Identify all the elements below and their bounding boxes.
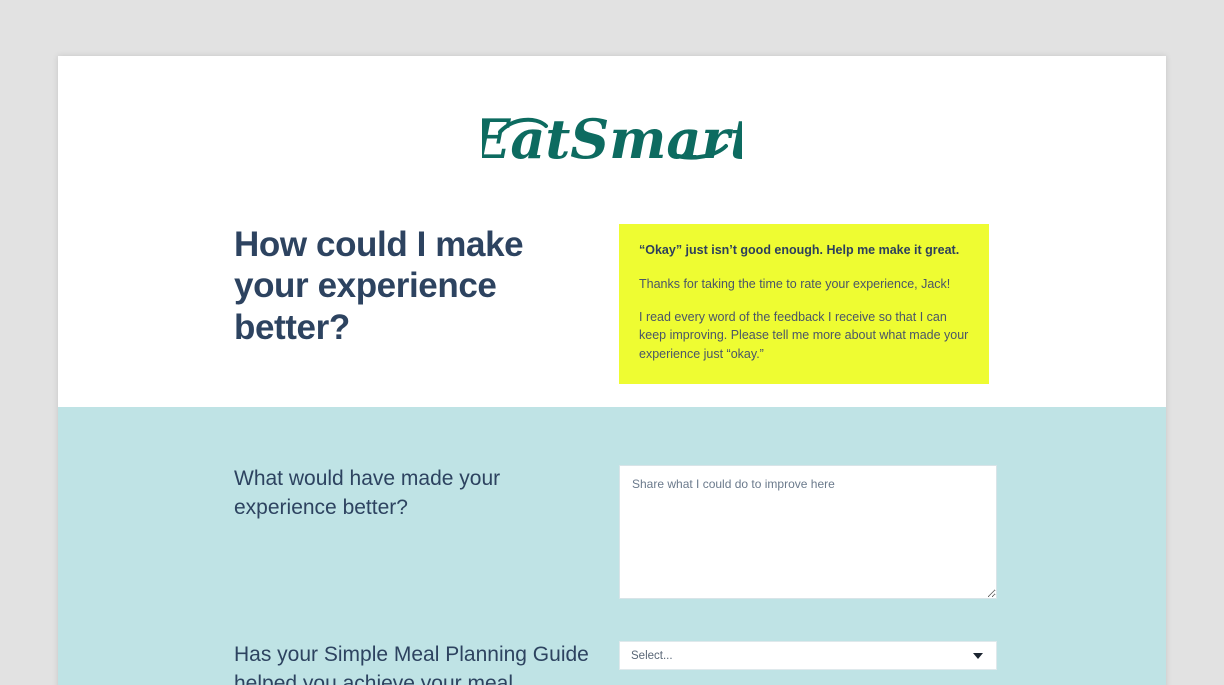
meal-guide-select[interactable]: Select... (619, 641, 997, 670)
intro-callout-col: “Okay” just isn’t good enough. Help me m… (619, 224, 989, 384)
question-section: What would have made your experience bet… (58, 407, 1166, 685)
question-label-col: What would have made your experience bet… (234, 465, 619, 599)
intro-row: How could I make your experience better?… (58, 224, 1166, 384)
meal-guide-select-value: Select... (631, 650, 973, 662)
intro-title-col: How could I make your experience better? (234, 224, 619, 384)
meal-guide-select-wrap: Select... (619, 641, 997, 670)
chevron-down-icon (973, 653, 983, 659)
feedback-textarea[interactable] (619, 465, 997, 599)
question-field-col: Select... (619, 641, 997, 685)
page-root: EatSmart How could I make your experienc… (0, 0, 1224, 685)
page-title: How could I make your experience better? (234, 224, 589, 348)
question-label-feedback: What would have made your experience bet… (234, 465, 589, 523)
eatsmart-logo-text: EatSmart (482, 107, 742, 171)
question-label-meal-planning-guide: Has your Simple Meal Planning Guide help… (234, 641, 589, 685)
survey-card: EatSmart How could I make your experienc… (58, 56, 1166, 685)
eatsmart-logo-mark: EatSmart (482, 102, 742, 182)
header-band: EatSmart How could I make your experienc… (58, 56, 1166, 407)
callout-box: “Okay” just isn’t good enough. Help me m… (619, 224, 989, 384)
question-row: Has your Simple Meal Planning Guide help… (234, 641, 1112, 685)
question-field-col (619, 465, 997, 599)
callout-paragraph-1: Thanks for taking the time to rate your … (639, 275, 969, 294)
question-row: What would have made your experience bet… (234, 465, 1112, 599)
callout-paragraph-2: I read every word of the feedback I rece… (639, 308, 969, 364)
eatsmart-logo: EatSmart (58, 96, 1166, 188)
question-label-col: Has your Simple Meal Planning Guide help… (234, 641, 619, 685)
callout-heading: “Okay” just isn’t good enough. Help me m… (639, 242, 969, 259)
